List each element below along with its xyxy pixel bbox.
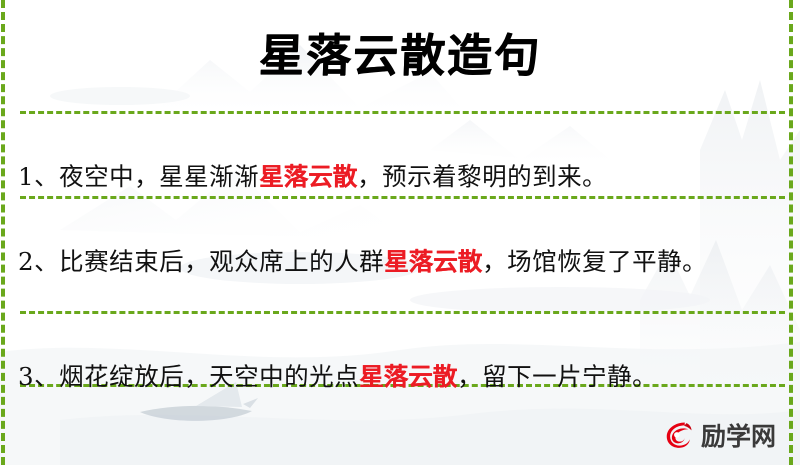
sentence-2-keyword: 星落云散 <box>384 247 482 276</box>
sentence-1-before: 夜空中，星星渐渐 <box>59 162 259 191</box>
sentence-2-index: 2、 <box>18 247 59 276</box>
sentence-1-keyword: 星落云散 <box>259 162 357 191</box>
sentence-1-after: ，预示着黎明的到来。 <box>357 162 607 191</box>
title-area: 星落云散造句 <box>0 0 800 111</box>
sentence-3-keyword: 星落云散 <box>359 362 457 391</box>
example-sentence-2: 2、比赛结束后，观众席上的人群星落云散，场馆恢复了平静。 <box>18 241 770 283</box>
divider-below-title <box>20 111 785 114</box>
divider-below-sentence-2 <box>20 311 785 314</box>
example-sentence-3: 3、烟花绽放后，天空中的光点星落云散，留下一片宁静。 <box>18 356 770 398</box>
page-title: 星落云散造句 <box>258 33 542 78</box>
sentence-3-index: 3、 <box>18 362 59 391</box>
sentence-2-after: ，场馆恢复了平静。 <box>482 247 707 276</box>
sentence-3-before: 烟花绽放后，天空中的光点 <box>59 362 359 391</box>
sentence-2-before: 比赛结束后，观众席上的人群 <box>59 247 384 276</box>
sentence-1-index: 1、 <box>18 162 59 191</box>
logo-text: 励学网 <box>701 424 776 449</box>
red-swirl-icon <box>660 418 696 454</box>
page-root: 星落云散造句 1、夜空中，星星渐渐星落云散，预示着黎明的到来。 2、比赛结束后，… <box>0 0 800 465</box>
sentence-3-after: ，留下一片宁静。 <box>457 362 657 391</box>
site-logo[interactable]: 励学网 <box>660 416 784 456</box>
example-sentence-1: 1、夜空中，星星渐渐星落云散，预示着黎明的到来。 <box>18 156 770 198</box>
